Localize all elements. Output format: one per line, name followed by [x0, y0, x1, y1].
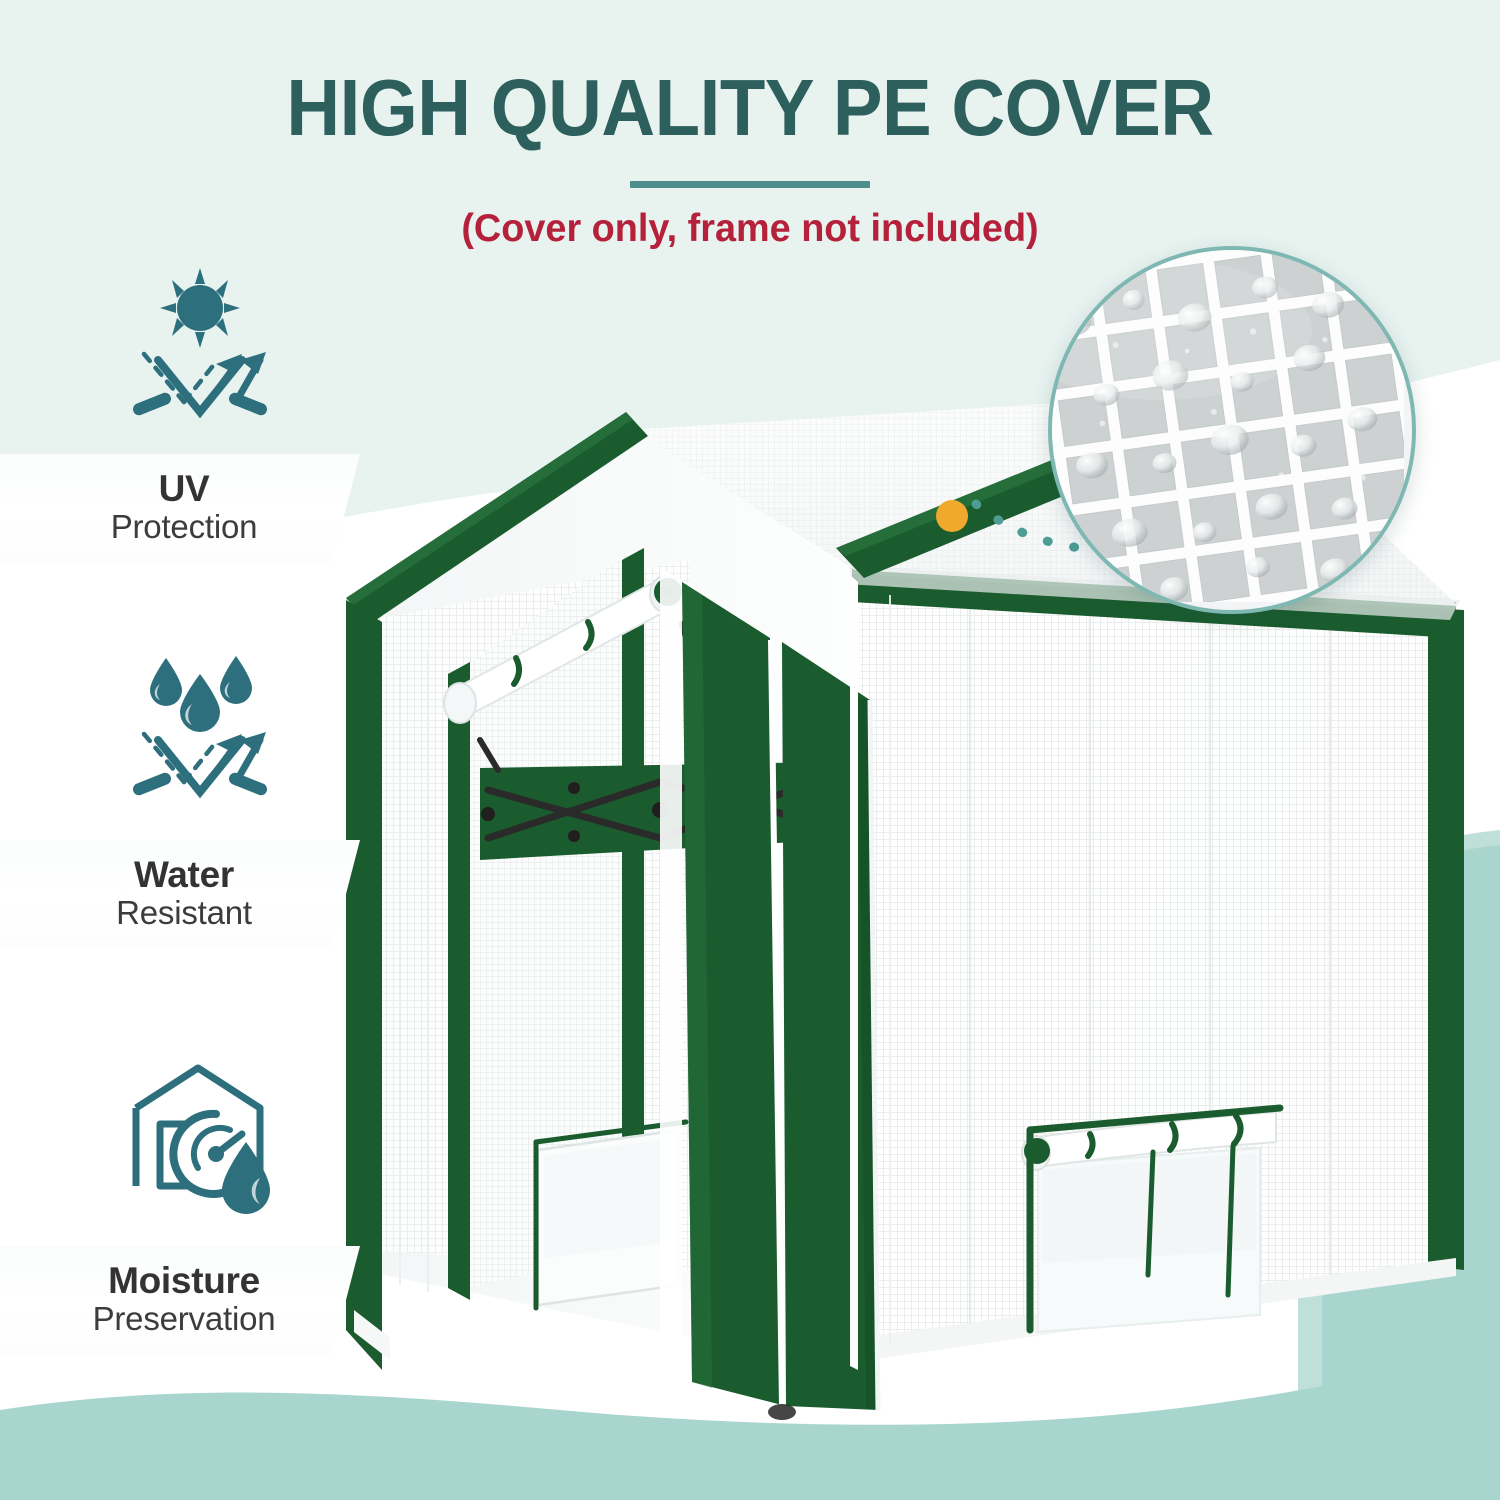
- title-divider: [630, 181, 870, 188]
- feature-sub-uv: Protection: [111, 509, 258, 546]
- feature-title-moisture: Moisture: [108, 1262, 260, 1300]
- feature-sub-moisture: Preservation: [93, 1301, 276, 1338]
- page-title: HIGH QUALITY PE COVER: [53, 62, 1448, 154]
- uv-protection-icon: [0, 262, 400, 447]
- infographic-canvas: HIGH QUALITY PE COVER (Cover only, frame…: [0, 0, 1500, 1500]
- feature-sub-water: Resistant: [116, 895, 252, 932]
- feature-title-uv: UV: [159, 470, 210, 508]
- fabric-closeup-magnifier: [1048, 246, 1416, 614]
- feature-banner-uv: UV Protection: [0, 454, 360, 562]
- feature-banner-water: Water Resistant: [0, 840, 360, 948]
- feature-title-water: Water: [134, 856, 234, 894]
- page-subtitle: (Cover only, frame not included): [23, 207, 1478, 251]
- water-resistant-icon: [0, 640, 400, 825]
- feature-banner-moisture: Moisture Preservation: [0, 1246, 360, 1354]
- moisture-preservation-icon: [0, 1050, 400, 1235]
